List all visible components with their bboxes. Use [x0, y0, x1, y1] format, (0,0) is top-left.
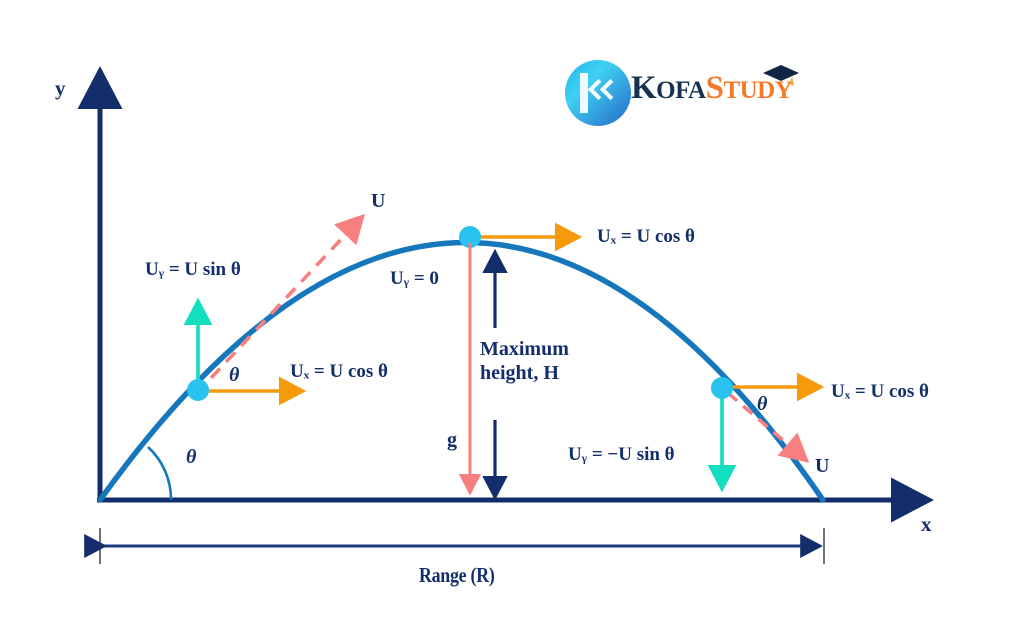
range-label: Range (R)	[419, 563, 495, 588]
graduation-cap-icon	[761, 64, 801, 92]
diagram-canvas	[0, 0, 1024, 643]
range-indicator	[100, 528, 824, 564]
logo-s: S	[706, 70, 724, 106]
logo-chevron-icon-2	[600, 79, 621, 100]
velocity-vectors-apex	[459, 226, 578, 248]
kofastudy-logo: KOFASTUDY	[565, 58, 805, 132]
uy-text: Uᵧ = U sin θ	[145, 259, 241, 280]
uy-label-apex: Uᵧ = 0	[390, 268, 439, 290]
theta-label-origin: θ	[186, 446, 196, 470]
logo-ofa: OFA	[656, 77, 705, 104]
max-height-label: Maximum height, H	[480, 338, 569, 385]
ux-label-apex: Uₓ = U cos θ	[597, 226, 695, 248]
u-label-ascent: U	[371, 190, 385, 214]
uy-label-descent: Uᵧ = −U sin θ	[568, 444, 675, 466]
marker-dot-descent	[711, 377, 733, 399]
marker-dot-ascent	[187, 379, 209, 401]
ux-text: Uₓ = U cos θ	[290, 361, 388, 382]
max-height-line-1: Maximum	[480, 338, 569, 362]
ux-label-descent: Uₓ = U cos θ	[831, 381, 929, 403]
u-label-descent: U	[815, 455, 829, 479]
uy-label-ascent: Uᵧ = U sin θ	[145, 259, 241, 281]
theta-label-descent: θ	[757, 393, 767, 417]
max-height-line-2: height, H	[480, 362, 569, 386]
projectile-motion-diagram: y x Uᵧ = U sin θ Uₓ = U cos θ U θ θ Uᵧ =…	[0, 0, 1024, 643]
y-axis-label: y	[55, 76, 66, 101]
launch-angle-arc	[148, 447, 171, 500]
logo-bar-icon	[580, 73, 588, 113]
ux-label-ascent: Uₓ = U cos θ	[290, 361, 388, 383]
logo-circle-icon	[565, 60, 631, 126]
gravity-label: g	[447, 429, 457, 453]
logo-k: K	[631, 70, 656, 106]
theta-label-ascent: θ	[229, 364, 239, 388]
x-axis-label: x	[921, 512, 932, 537]
